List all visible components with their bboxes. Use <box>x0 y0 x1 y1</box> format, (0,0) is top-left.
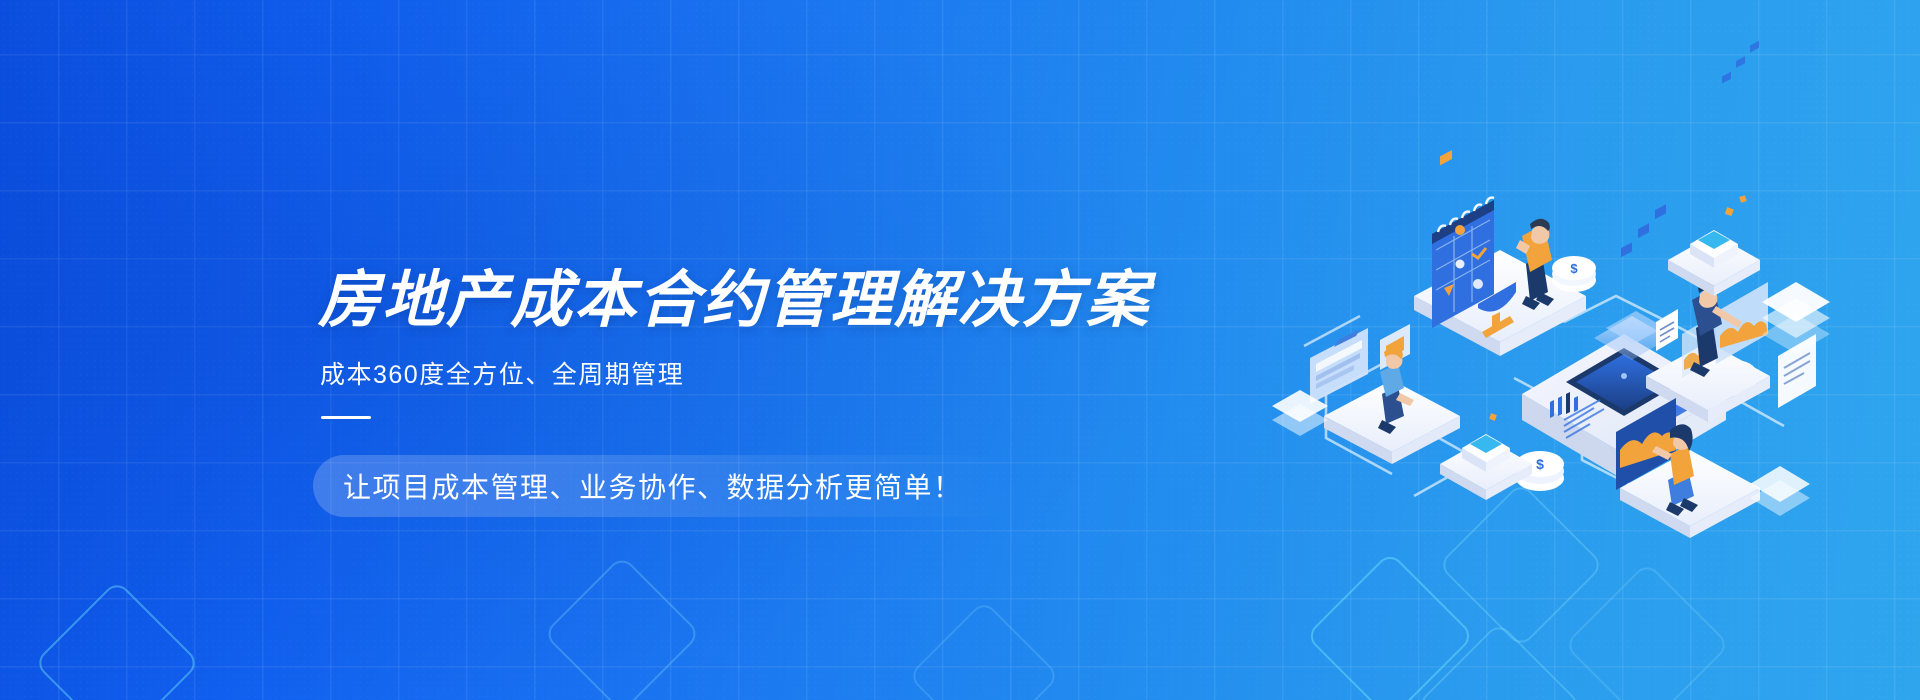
page-subtitle: 成本360度全方位、全周期管理 <box>320 360 1138 390</box>
svg-text:$: $ <box>1536 456 1544 472</box>
title-divider <box>321 416 371 419</box>
hero-illustration: $ $ $ <box>1264 188 1824 528</box>
tagline-pill: 让项目成本管理、业务协作、数据分析更简单！ <box>313 455 1013 517</box>
pedestal-top-right <box>1668 195 1760 296</box>
page-title: 房地产成本合约管理解决方案 <box>318 268 1138 334</box>
hero-banner: $ $ $ <box>0 0 1920 700</box>
tagline-text: 让项目成本管理、业务协作、数据分析更简单！ <box>343 466 963 506</box>
hero-copy: 房地产成本合约管理解决方案 成本360度全方位、全周期管理 让项目成本管理、业务… <box>318 268 1138 517</box>
stacked-cards-right <box>1762 282 1830 354</box>
svg-text:$: $ <box>1570 261 1578 276</box>
coin-stack-upper: $ <box>1552 256 1596 292</box>
